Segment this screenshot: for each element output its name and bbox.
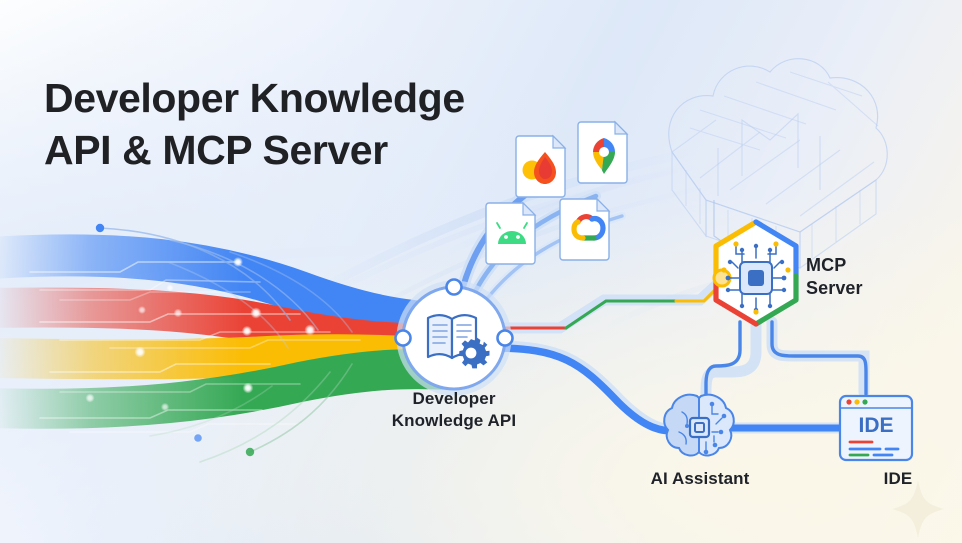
diagram-canvas: IDE Developer Knowledge API & MCP Server… (0, 0, 962, 543)
page-title: Developer Knowledge API & MCP Server (44, 72, 465, 177)
node-mcp-server[interactable] (714, 222, 796, 324)
window-traffic-lights (846, 399, 867, 404)
label-ide: IDE (828, 468, 962, 490)
label-mcp-server: MCP Server (806, 254, 936, 300)
label-ai-assistant: AI Assistant (620, 468, 780, 490)
node-ide[interactable]: IDE (840, 396, 912, 460)
connector-dot-top (447, 280, 462, 295)
connector-dot-right (498, 331, 513, 346)
ide-window-text: IDE (858, 414, 893, 437)
label-developer-knowledge-api: Developer Knowledge API (348, 388, 560, 432)
node-ai-assistant[interactable] (664, 395, 734, 456)
connector-dot-left (396, 331, 411, 346)
node-developer-knowledge-api[interactable] (396, 280, 513, 394)
brain-circuit-icon (664, 395, 734, 456)
